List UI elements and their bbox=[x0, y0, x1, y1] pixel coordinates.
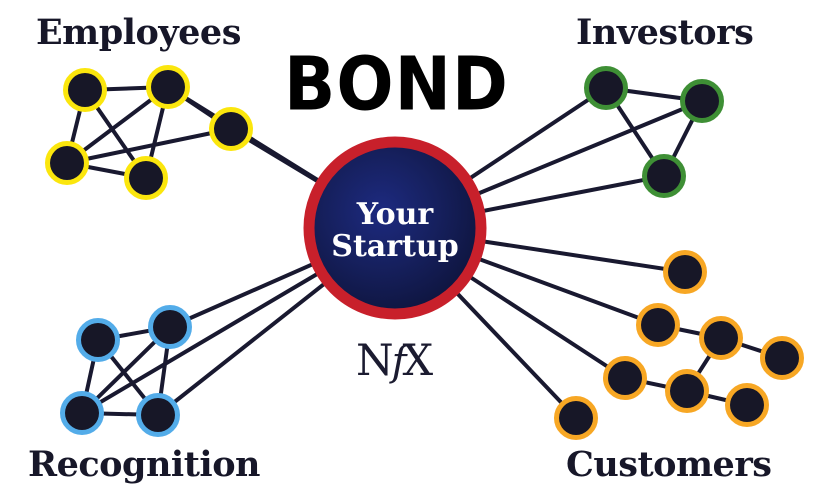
node-employees[interactable] bbox=[48, 144, 86, 182]
node-investors[interactable] bbox=[587, 69, 625, 107]
node-core bbox=[68, 73, 102, 107]
node-customers[interactable] bbox=[557, 399, 595, 437]
hub-node[interactable]: YourStartup bbox=[309, 142, 481, 314]
hub-spoke-customers bbox=[474, 257, 658, 325]
node-customers[interactable] bbox=[702, 319, 740, 357]
node-core bbox=[670, 374, 704, 408]
node-recognition[interactable] bbox=[139, 396, 177, 434]
node-customers[interactable] bbox=[639, 306, 677, 344]
node-core bbox=[685, 84, 719, 118]
diagram-canvas: YourStartup Employees Investors Customer… bbox=[0, 0, 828, 502]
node-employees[interactable] bbox=[149, 68, 187, 106]
node-core bbox=[141, 398, 175, 432]
hub-label-line2: Startup bbox=[331, 229, 458, 264]
node-core bbox=[151, 70, 185, 104]
node-investors[interactable] bbox=[683, 82, 721, 120]
node-recognition[interactable] bbox=[151, 308, 189, 346]
node-core bbox=[153, 310, 187, 344]
bond-wordmark: BOND bbox=[284, 48, 509, 122]
node-employees[interactable] bbox=[212, 110, 250, 148]
node-core bbox=[730, 388, 764, 422]
hub-spoke-customers bbox=[478, 241, 685, 272]
hub-spoke-recognition bbox=[158, 280, 329, 415]
nfx-letter-n: N bbox=[356, 336, 393, 386]
node-core bbox=[129, 161, 163, 195]
node-customers[interactable] bbox=[728, 386, 766, 424]
hub-label-line1: Your bbox=[356, 197, 435, 232]
cluster-label-investors: Investors bbox=[576, 15, 753, 50]
node-core bbox=[214, 112, 248, 146]
node-employees[interactable] bbox=[127, 159, 165, 197]
node-core bbox=[647, 159, 681, 193]
cluster-label-customers: Customers bbox=[566, 447, 771, 482]
node-customers[interactable] bbox=[668, 372, 706, 410]
node-customers[interactable] bbox=[666, 253, 704, 291]
node-core bbox=[589, 71, 623, 105]
node-core bbox=[668, 255, 702, 289]
node-core bbox=[81, 323, 115, 357]
node-employees[interactable] bbox=[66, 71, 104, 109]
node-recognition[interactable] bbox=[79, 321, 117, 359]
nfx-wordmark: NfX bbox=[356, 340, 432, 383]
node-customers[interactable] bbox=[763, 339, 801, 377]
node-customers[interactable] bbox=[606, 359, 644, 397]
node-investors[interactable] bbox=[645, 157, 683, 195]
node-core bbox=[704, 321, 738, 355]
node-core bbox=[641, 308, 675, 342]
node-core bbox=[608, 361, 642, 395]
nfx-letter-x: X bbox=[402, 336, 432, 386]
node-core bbox=[765, 341, 799, 375]
node-recognition[interactable] bbox=[63, 394, 101, 432]
node-core bbox=[50, 146, 84, 180]
cluster-label-employees: Employees bbox=[36, 15, 241, 50]
node-core bbox=[559, 401, 593, 435]
cluster-label-recognition: Recognition bbox=[28, 447, 260, 482]
node-core bbox=[65, 396, 99, 430]
